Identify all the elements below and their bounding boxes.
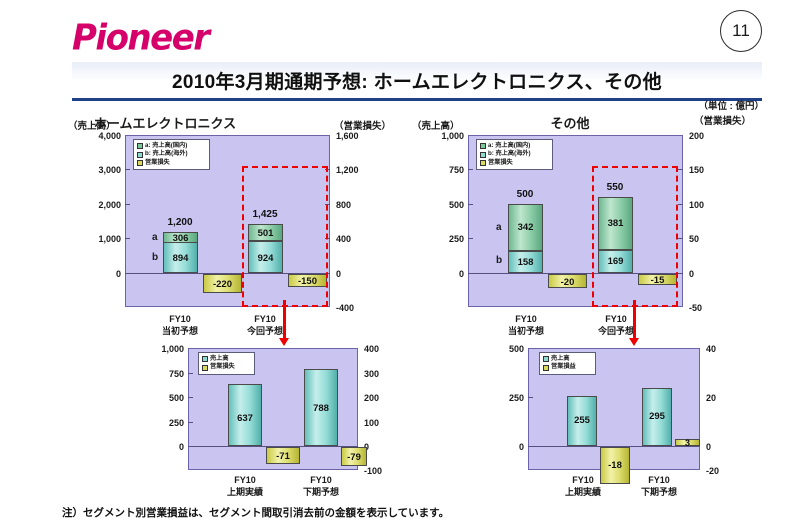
lower2-right-tick-0: 40 [706, 344, 716, 354]
bar4-sales-0: 255 [567, 396, 597, 446]
lower2-left-tick-1: 250 [470, 393, 524, 403]
bar4-value-profit-1: 3 [676, 438, 699, 448]
bar4-value-sales-1: 295 [643, 411, 671, 422]
lower2-right-tick-3: -20 [706, 466, 719, 476]
legend-lower-right: 売上高 営業損益 [539, 352, 596, 375]
bar4-sales-1: 295 [642, 388, 672, 446]
chart-others-half: 500 250 0 40 20 0 -20 売上高 営業損益 255 -18 2… [0, 0, 800, 530]
x4-label-0-line2: 上期実績 [552, 486, 614, 498]
x4-label-1-line1: FY10 [628, 474, 690, 486]
legend-swatch-op-income-icon [543, 365, 549, 371]
legend-label-profit: 営業損益 [551, 363, 576, 371]
x4-label-0: FY10 上期実績 [552, 474, 614, 498]
lower2-right-tick-1: 20 [706, 393, 716, 403]
legend-item-profit: 営業損益 [543, 363, 591, 371]
bar4-profit-1: 3 [675, 439, 700, 446]
x4-label-1-line2: 下期予想 [628, 486, 690, 498]
lower2-left-tickmark [528, 397, 533, 398]
legend-swatch-sales-icon [543, 356, 549, 362]
bar4-value-loss-0: -18 [601, 460, 629, 471]
lower2-left-tick-2: 0 [470, 442, 524, 452]
x4-label-1: FY10 下期予想 [628, 474, 690, 498]
lower2-left-tick-0: 500 [470, 344, 524, 354]
bar4-value-sales-0: 255 [568, 415, 596, 426]
footnote: 注）セグメント別営業損益は、セグメント間取引消去前の金額を表示しています。 [62, 505, 449, 520]
x4-label-0-line1: FY10 [552, 474, 614, 486]
lower2-right-tick-2: 0 [706, 442, 711, 452]
